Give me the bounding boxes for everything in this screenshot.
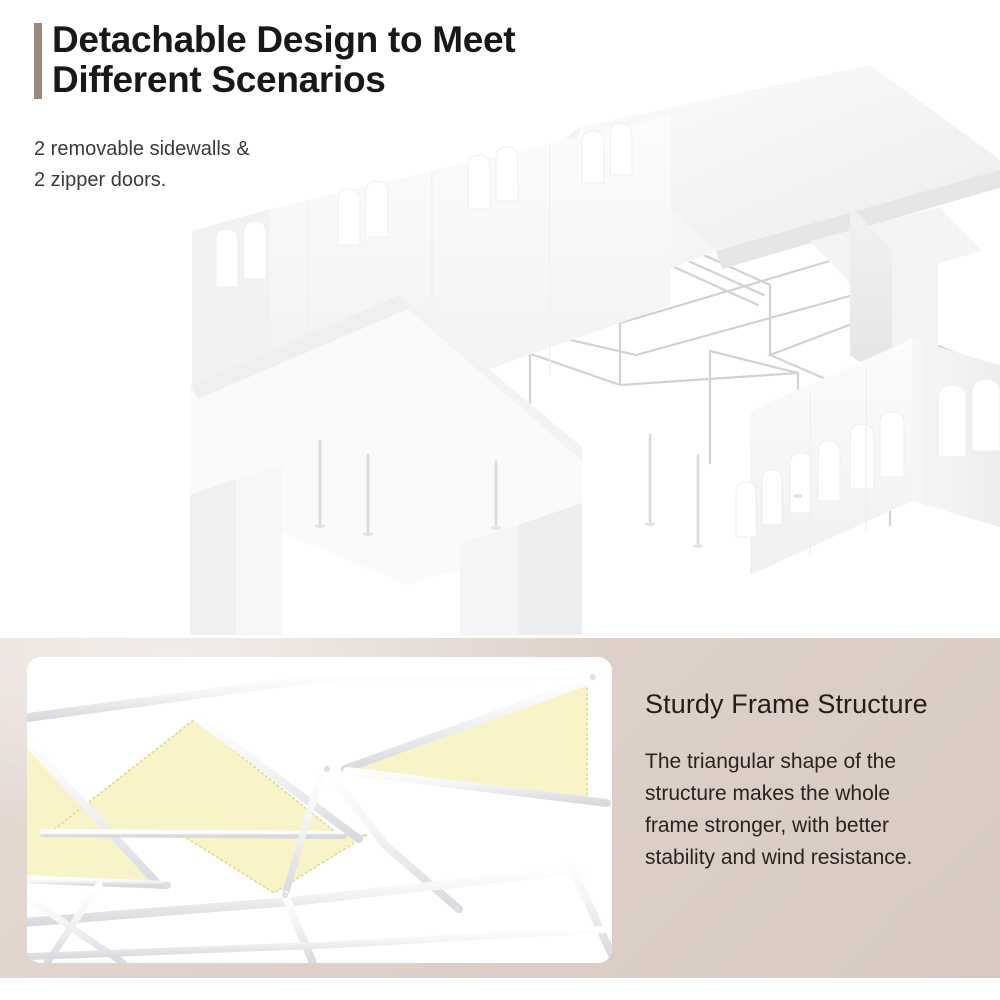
bottom-text-block: Sturdy Frame Structure The triangular sh… xyxy=(645,688,975,874)
product-feature-page: Detachable Design to Meet Different Scen… xyxy=(0,0,1000,1000)
party-tent-illustration xyxy=(150,55,1000,635)
feature-title: Sturdy Frame Structure xyxy=(645,688,975,720)
bottom-feature-section: Sturdy Frame Structure The triangular sh… xyxy=(0,638,1000,978)
feature-body: The triangular shape of the structure ma… xyxy=(645,746,975,874)
frame-photo-card xyxy=(27,657,612,963)
top-feature-section: Detachable Design to Meet Different Scen… xyxy=(0,0,1000,638)
accent-bar xyxy=(34,23,42,99)
